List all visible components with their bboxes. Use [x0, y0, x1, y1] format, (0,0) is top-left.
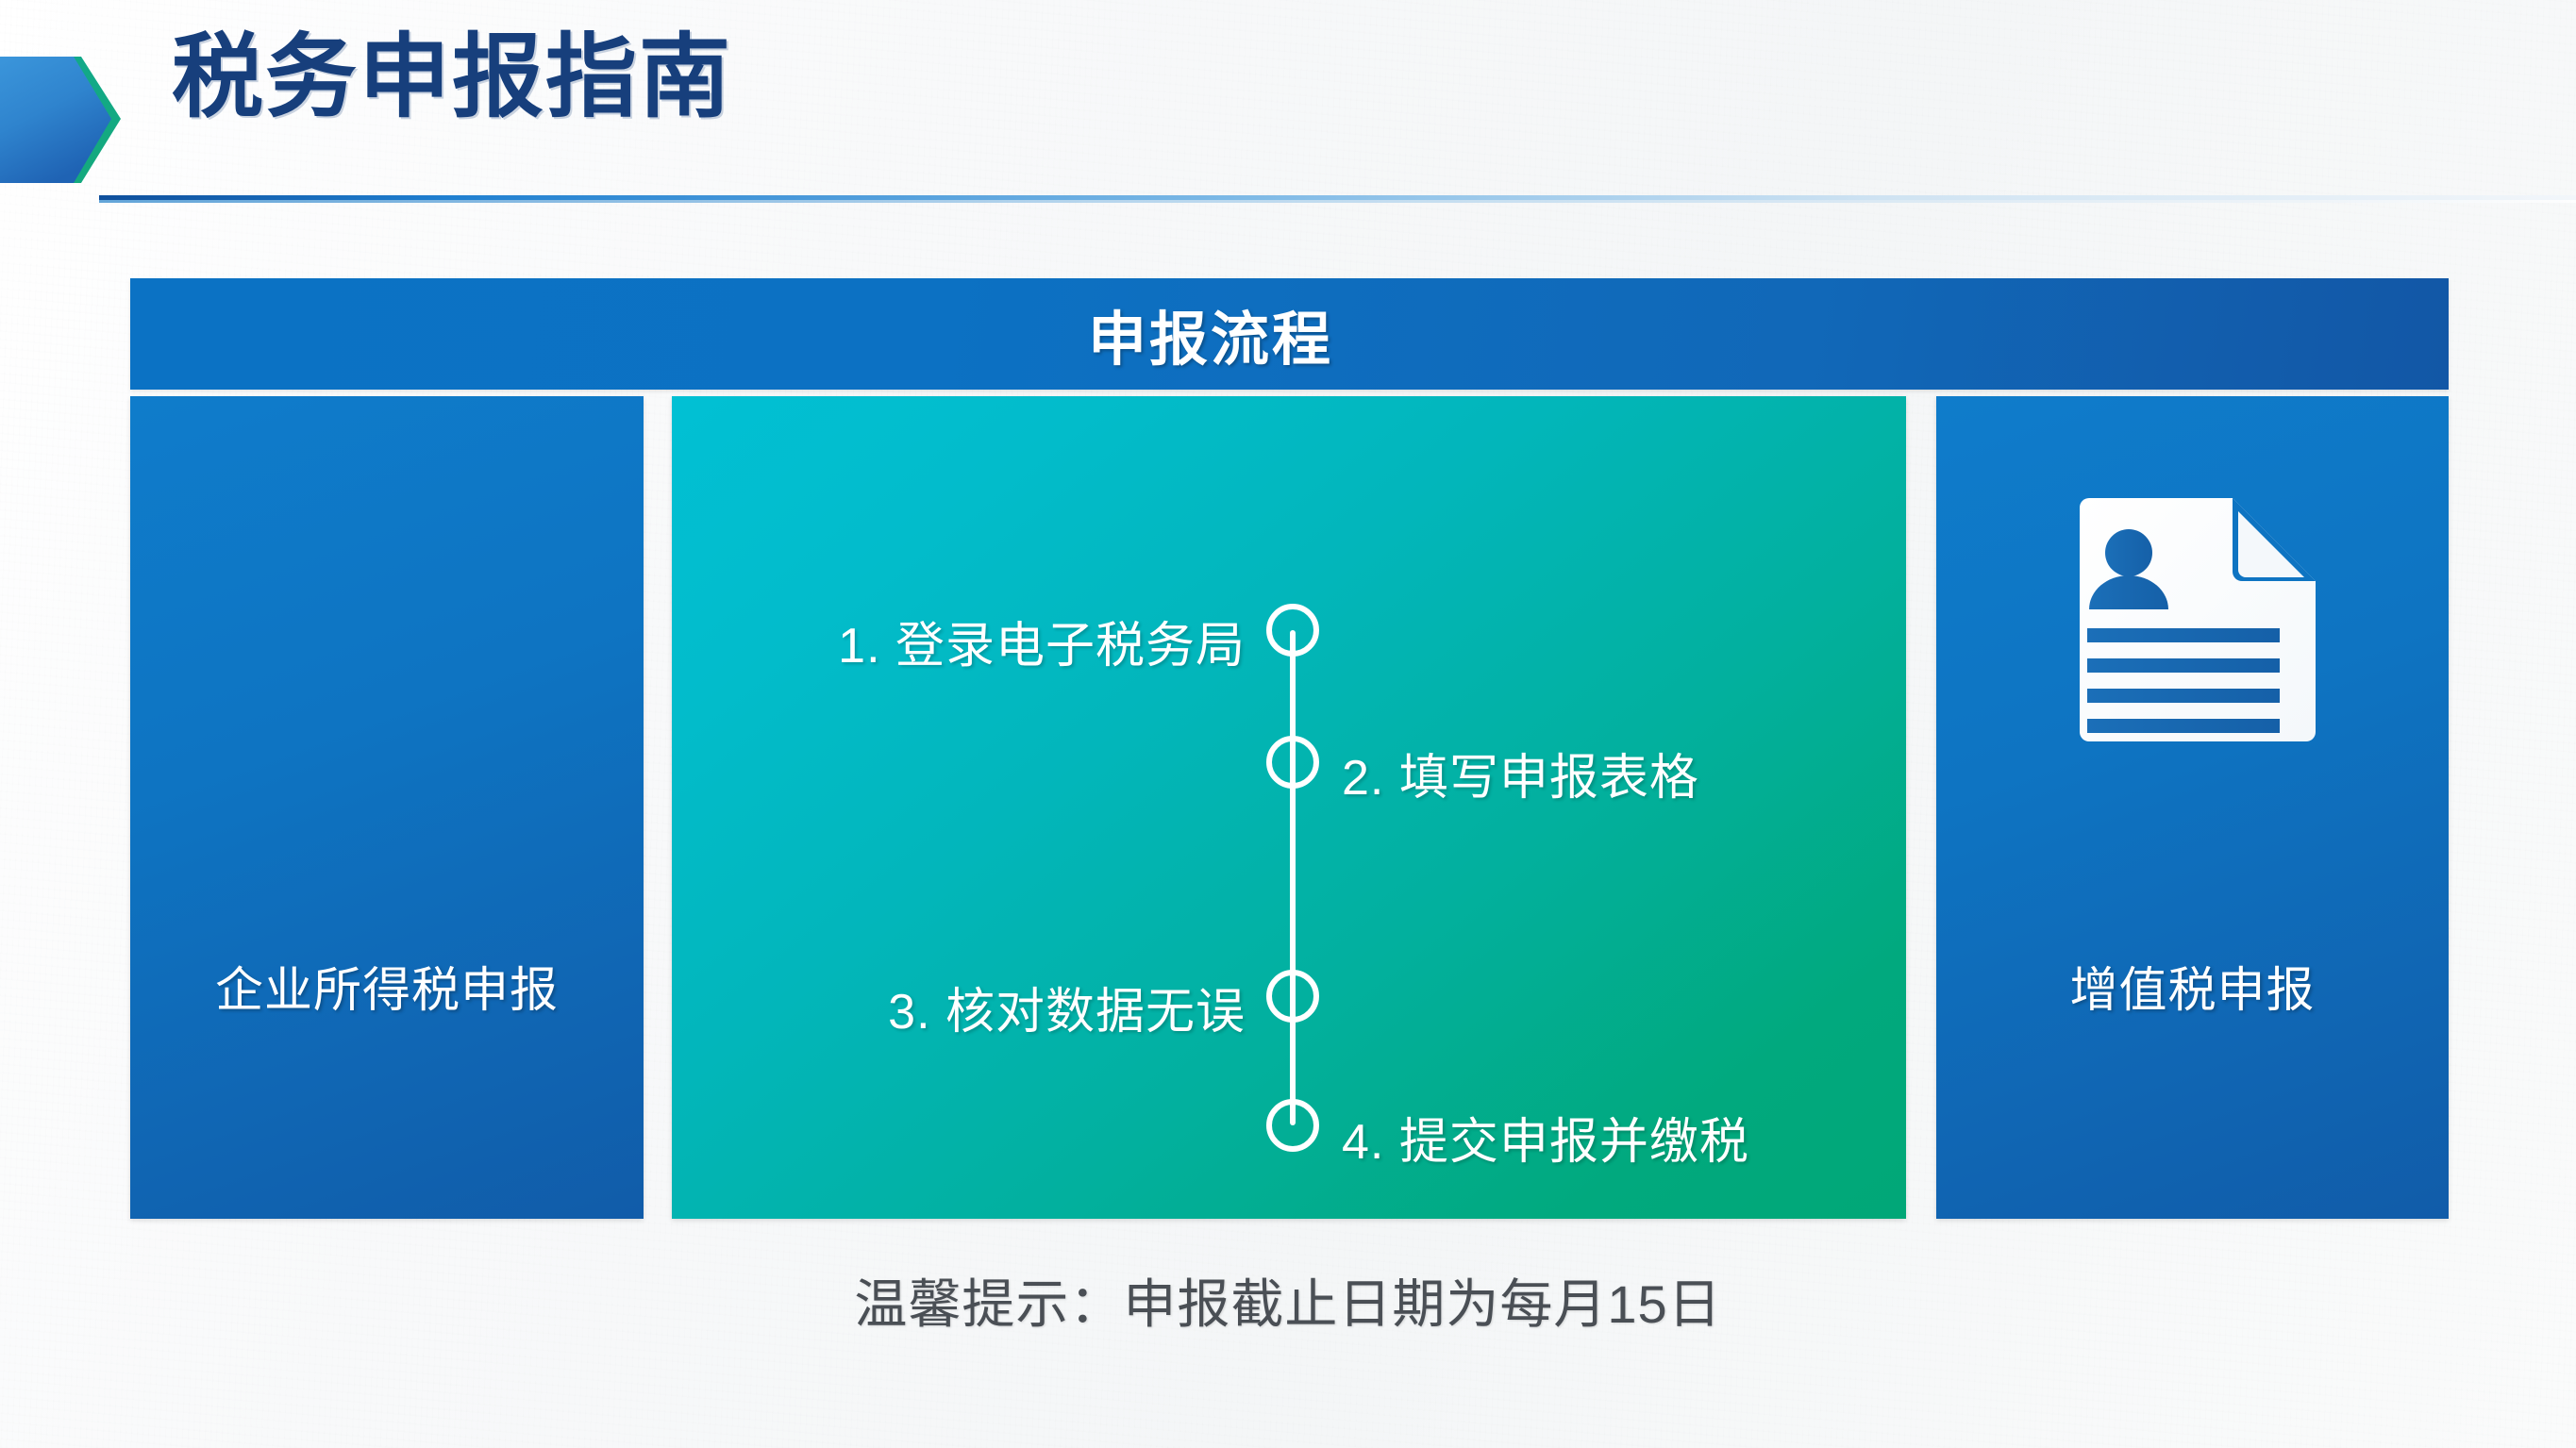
timeline-step-3-label: 3. 核对数据无误	[731, 972, 1246, 1042]
timeline-node-2[interactable]	[1266, 736, 1319, 789]
process-banner: 申报流程	[130, 278, 2449, 390]
process-timeline-panel: 1. 登录电子税务局 2. 填写申报表格 3. 核对数据无误 4. 提交申报并缴…	[672, 396, 1906, 1219]
process-banner-title: 申报流程	[130, 278, 2291, 390]
timeline-step-2-label: 2. 填写申报表格	[1342, 738, 1870, 808]
timeline-node-1[interactable]	[1266, 604, 1319, 657]
card-vat-declaration-label: 增值税申报	[1936, 951, 2449, 1021]
card-corporate-income-tax-label: 企业所得税申报	[130, 951, 644, 1021]
timeline-step-4-label: 4. 提交申报并缴税	[1342, 1102, 1870, 1173]
document-person-icon	[2066, 494, 2319, 749]
header-divider-highlight	[99, 200, 2576, 203]
card-vat-declaration[interactable]: 增值税申报	[1936, 396, 2449, 1219]
timeline-spine	[1290, 630, 1296, 1125]
page-header: 税务申报指南	[0, 0, 2576, 212]
timeline-node-4[interactable]	[1266, 1099, 1319, 1152]
card-corporate-income-tax[interactable]: 企业所得税申报	[130, 396, 644, 1219]
timeline-node-3[interactable]	[1266, 970, 1319, 1023]
timeline-step-1-label: 1. 登录电子税务局	[731, 606, 1246, 676]
chevron-arrow-mark-icon	[0, 36, 125, 198]
deadline-note: 温馨提示：申报截止日期为每月15日	[0, 1262, 2576, 1339]
page-title: 税务申报指南	[172, 28, 732, 127]
